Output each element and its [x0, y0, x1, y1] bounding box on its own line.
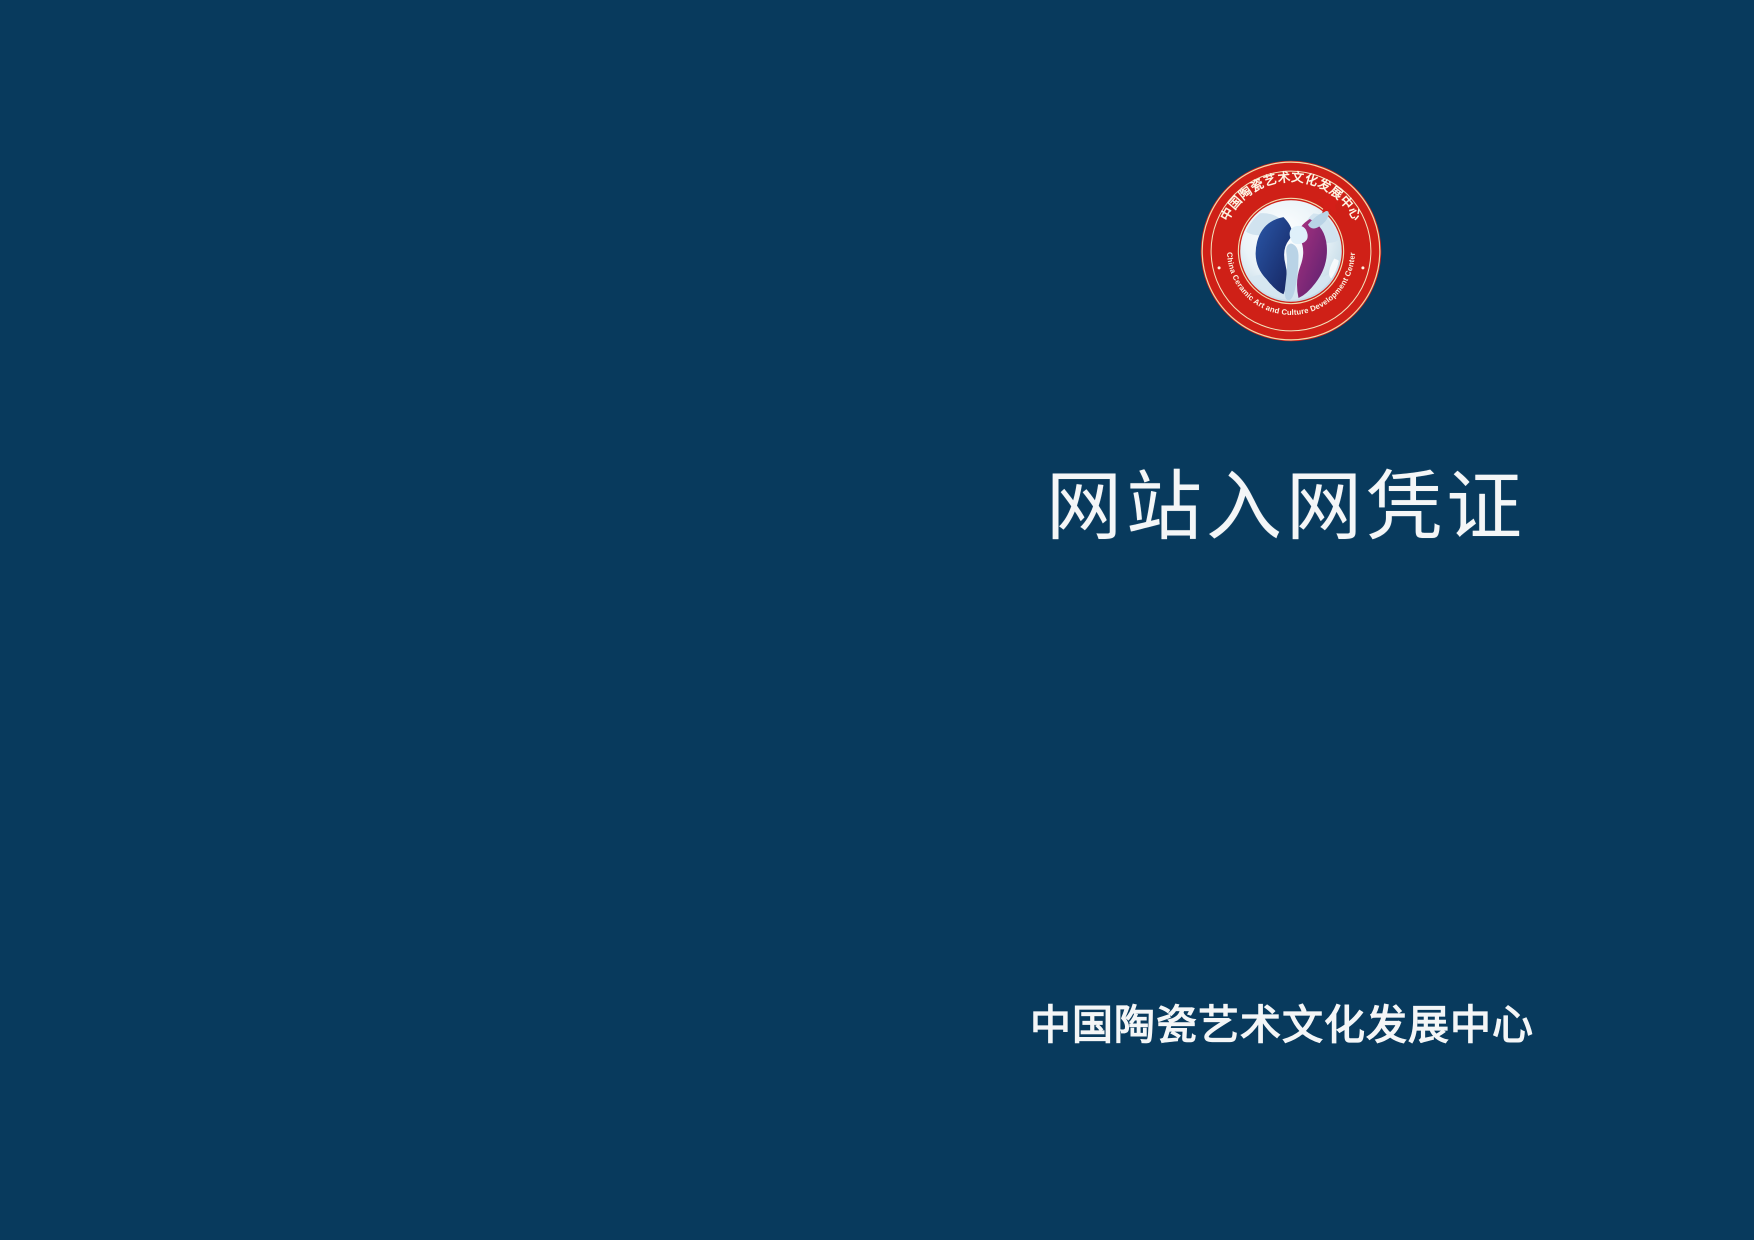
organization-name: 中国陶瓷艺术文化发展中心 — [1030, 1003, 1550, 1048]
page-title: 网站入网凭证 — [1046, 468, 1546, 546]
organization-seal-logo: 中国陶瓷艺术文化发展中心 China Ceramic Art and Cultu… — [1197, 157, 1385, 345]
certificate-cover: 中国陶瓷艺术文化发展中心 China Ceramic Art and Cultu… — [0, 0, 1754, 1240]
seal-dot-left — [1218, 266, 1221, 269]
seal-dot-right — [1361, 266, 1364, 269]
seal-svg: 中国陶瓷艺术文化发展中心 China Ceramic Art and Cultu… — [1197, 157, 1385, 345]
